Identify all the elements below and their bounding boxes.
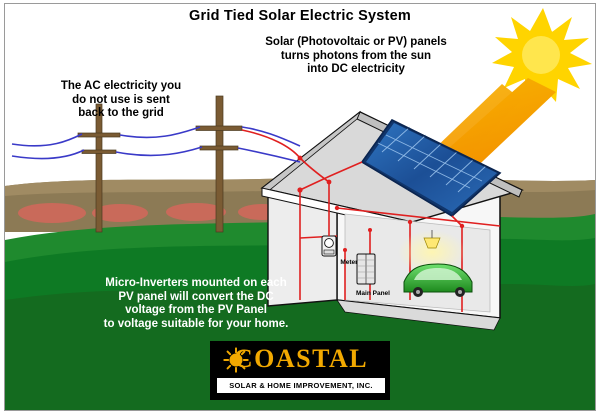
logo-sun-icon [223,347,249,373]
annotation-solar-panels: Solar (Photovoltaic or PV) panels turns … [258,36,454,77]
annotation-grid-export: The AC electricity you do not use is sen… [26,80,216,121]
company-logo: COASTAL SOLAR & HOME IMPROVEMENT, INC. [210,341,390,400]
annotation-micro-inverters: Micro-Inverters mounted on each PV panel… [60,277,332,331]
diagram-canvas: Grid Tied Solar Electric System Solar (P… [0,0,600,415]
label-meter: Meter [329,259,369,266]
electric-meter [322,236,336,256]
logo-subtitle: SOLAR & HOME IMPROVEMENT, INC. [217,379,385,392]
label-main-panel: Main Panel [345,290,401,297]
diagram-title: Grid Tied Solar Electric System [0,8,600,25]
